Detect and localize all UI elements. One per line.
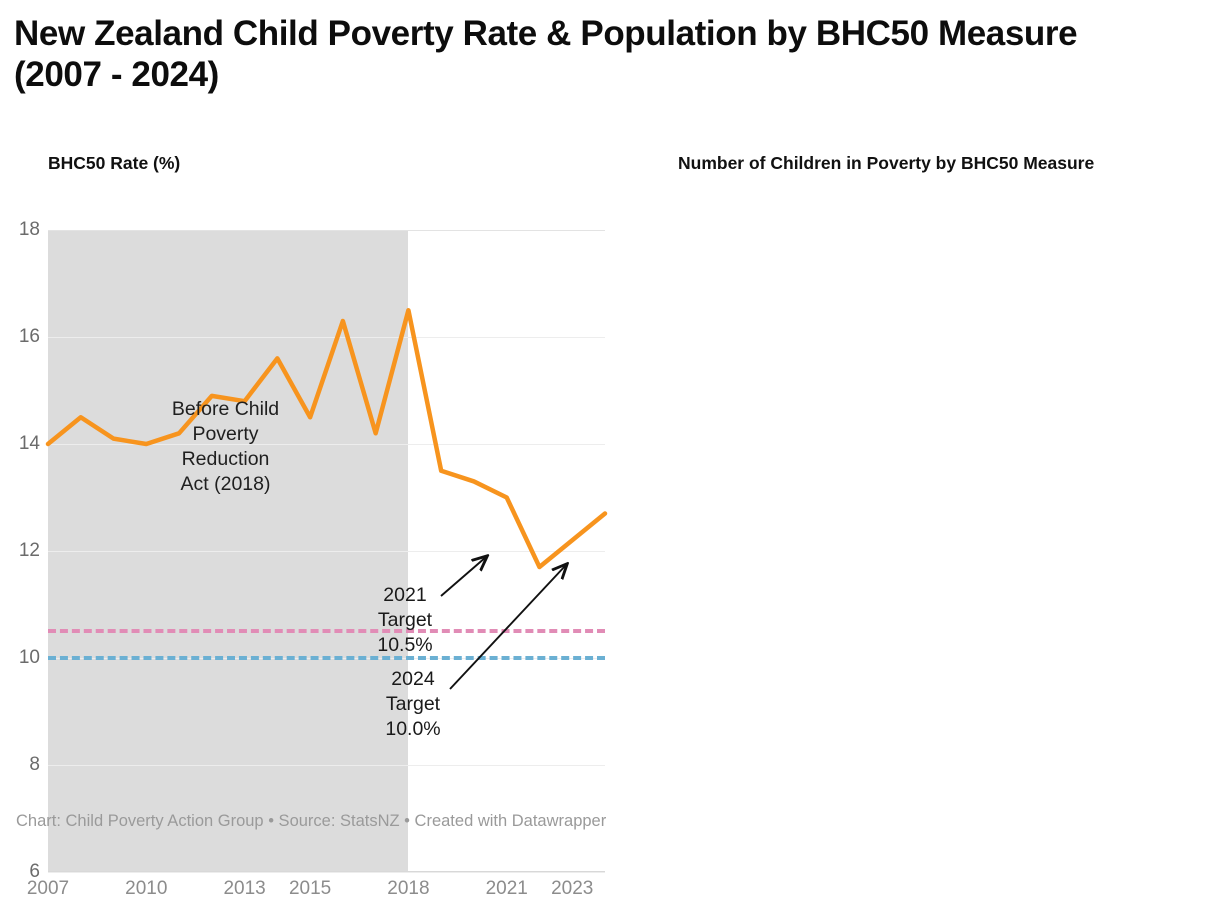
footer-credit: Chart: Child Poverty Action Group • Sour… xyxy=(16,812,606,831)
y-axis-tick-rate: 16 xyxy=(19,326,40,348)
y-axis-tick-rate: 18 xyxy=(19,219,40,241)
x-axis-tick-rate: 2007 xyxy=(27,878,69,900)
annotation-before-act: Before Child Poverty Reduction Act (2018… xyxy=(118,397,333,497)
gridline xyxy=(48,872,605,873)
series-layer-rate xyxy=(48,230,605,872)
x-axis-tick-rate: 2013 xyxy=(223,878,265,900)
y-axis-tick-rate: 8 xyxy=(29,754,40,776)
y-axis-tick-rate: 14 xyxy=(19,433,40,455)
x-axis-baseline xyxy=(48,871,605,872)
annotation-target-2021: 2021 Target 10.5% xyxy=(340,583,470,658)
plot-area-left: 6810121416182007201020132015201820212023 xyxy=(48,230,605,872)
panel-children-count: Number of Children in Poverty by BHC50 M… xyxy=(610,140,1220,840)
panel-title-right: Number of Children in Poverty by BHC50 M… xyxy=(678,152,1178,175)
x-axis-tick-rate: 2021 xyxy=(486,878,528,900)
panel-title-left: BHC50 Rate (%) xyxy=(48,152,548,175)
y-axis-tick-rate: 10 xyxy=(19,647,40,669)
y-axis-tick-rate: 12 xyxy=(19,540,40,562)
annotation-target-2024: 2024 Target 10.0% xyxy=(348,667,478,742)
x-axis-tick-rate: 2023 xyxy=(551,878,593,900)
x-axis-tick-rate: 2010 xyxy=(125,878,167,900)
page-title: New Zealand Child Poverty Rate & Populat… xyxy=(14,14,1164,95)
x-axis-tick-rate: 2015 xyxy=(289,878,331,900)
chart-page: New Zealand Child Poverty Rate & Populat… xyxy=(0,0,1220,850)
x-axis-tick-rate: 2018 xyxy=(387,878,429,900)
